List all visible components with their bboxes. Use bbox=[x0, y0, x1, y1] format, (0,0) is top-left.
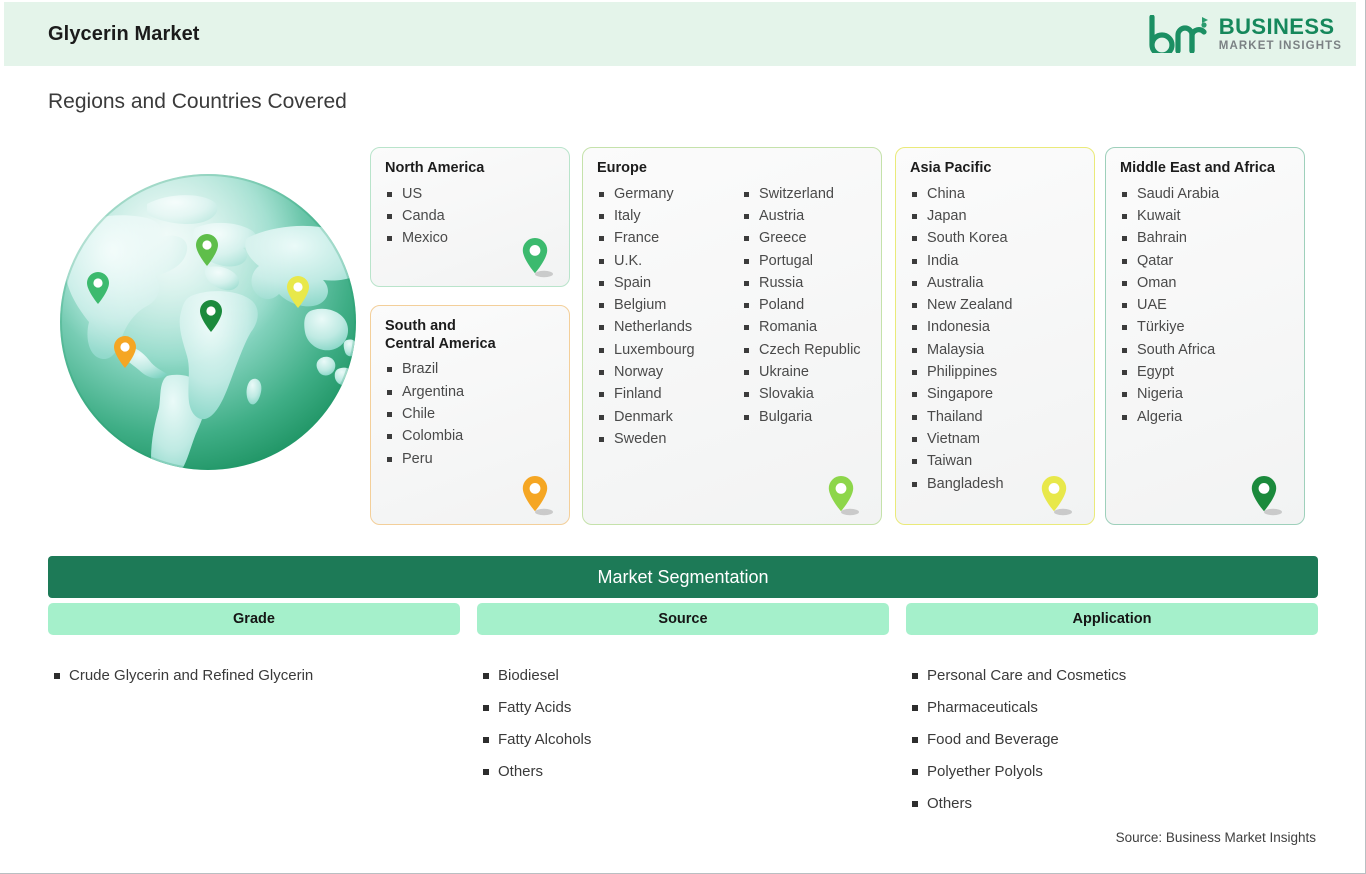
country-item: Singapore bbox=[910, 383, 1080, 405]
country-item: Ukraine bbox=[742, 361, 861, 383]
segmentation-item: Polyether Polyols bbox=[910, 756, 1318, 788]
segmentation-item-list: Biodiesel Fatty Acids Fatty Alcohols Oth… bbox=[477, 660, 889, 788]
segmentation-column-grade: Grade Crude Glycerin and Refined Glyceri… bbox=[48, 603, 460, 820]
country-item: Norway bbox=[597, 361, 742, 383]
country-list-column-2: Switzerland Austria Greece Portugal Russ… bbox=[742, 183, 861, 451]
market-segmentation-header: Market Segmentation bbox=[48, 556, 1318, 598]
country-item: Luxembourg bbox=[597, 339, 742, 361]
segmentation-column-header[interactable]: Source bbox=[477, 603, 889, 635]
bmi-logo-text: BUSINESS MARKET INSIGHTS bbox=[1219, 16, 1342, 53]
country-item: Australia bbox=[910, 272, 1080, 294]
country-item: UAE bbox=[1120, 294, 1290, 316]
region-title: Europe bbox=[597, 160, 867, 178]
country-item: Nigeria bbox=[1120, 383, 1290, 405]
country-item: Qatar bbox=[1120, 250, 1290, 272]
logo-secondary-text: MARKET INSIGHTS bbox=[1219, 41, 1342, 53]
report-page: Glycerin Market BUSINESS MARKET INSIGHTS… bbox=[0, 0, 1366, 874]
region-title: Middle East and Africa bbox=[1120, 160, 1290, 178]
country-item: Taiwan bbox=[910, 450, 1080, 472]
country-item: Japan bbox=[910, 205, 1080, 227]
segmentation-item: Fatty Alcohols bbox=[481, 724, 889, 756]
country-item: Indonesia bbox=[910, 316, 1080, 338]
country-item: Romania bbox=[742, 316, 861, 338]
country-item: Switzerland bbox=[742, 183, 861, 205]
map-pin-icon bbox=[1038, 474, 1072, 518]
country-item: Malaysia bbox=[910, 339, 1080, 361]
region-title-line1: South and bbox=[385, 318, 456, 334]
segmentation-item: Others bbox=[481, 756, 889, 788]
map-pin-icon bbox=[519, 236, 553, 280]
country-list: China Japan South Korea India Australia … bbox=[910, 183, 1080, 495]
country-item: Denmark bbox=[597, 406, 742, 428]
country-list-column-1: Germany Italy France U.K. Spain Belgium … bbox=[597, 183, 742, 451]
country-item: Czech Republic bbox=[742, 339, 861, 361]
country-item: Netherlands bbox=[597, 316, 742, 338]
country-item: Portugal bbox=[742, 250, 861, 272]
country-item: U.K. bbox=[597, 250, 742, 272]
region-card-middle-east-and-africa[interactable]: Middle East and Africa Saudi Arabia Kuwa… bbox=[1105, 147, 1305, 525]
page-header: Glycerin Market BUSINESS MARKET INSIGHTS bbox=[4, 2, 1356, 66]
country-item: New Zealand bbox=[910, 294, 1080, 316]
region-title: North America bbox=[385, 160, 555, 178]
country-item: Germany bbox=[597, 183, 742, 205]
region-card-north-america[interactable]: North America US Canda Mexico bbox=[370, 147, 570, 287]
country-item: Vietnam bbox=[910, 428, 1080, 450]
country-item: Algeria bbox=[1120, 406, 1290, 428]
country-item: South Korea bbox=[910, 227, 1080, 249]
country-item: Egypt bbox=[1120, 361, 1290, 383]
map-pin-icon bbox=[519, 474, 553, 518]
country-item: France bbox=[597, 227, 742, 249]
country-item: Poland bbox=[742, 294, 861, 316]
country-item: Sweden bbox=[597, 428, 742, 450]
page-title: Glycerin Market bbox=[48, 23, 200, 46]
country-item: Kuwait bbox=[1120, 205, 1290, 227]
country-item: Belgium bbox=[597, 294, 742, 316]
segmentation-item: Food and Beverage bbox=[910, 724, 1318, 756]
country-item: Canda bbox=[385, 205, 555, 227]
segmentation-item-list: Crude Glycerin and Refined Glycerin bbox=[48, 660, 460, 692]
country-item: Greece bbox=[742, 227, 861, 249]
segmentation-column-source: Source Biodiesel Fatty Acids Fatty Alcoh… bbox=[477, 603, 889, 820]
country-item: Philippines bbox=[910, 361, 1080, 383]
region-title: South and Central America bbox=[385, 318, 555, 353]
country-item: US bbox=[385, 183, 555, 205]
country-item: Oman bbox=[1120, 272, 1290, 294]
section-title: Regions and Countries Covered bbox=[48, 90, 347, 114]
segmentation-item: Others bbox=[910, 788, 1318, 820]
segmentation-item: Pharmaceuticals bbox=[910, 692, 1318, 724]
market-segmentation-columns: Grade Crude Glycerin and Refined Glyceri… bbox=[48, 603, 1318, 820]
country-item: Thailand bbox=[910, 406, 1080, 428]
country-item: Colombia bbox=[385, 425, 555, 447]
segmentation-column-header[interactable]: Grade bbox=[48, 603, 460, 635]
map-pin-icon bbox=[1248, 474, 1282, 518]
region-title-line2: Central America bbox=[385, 336, 496, 352]
region-card-asia-pacific[interactable]: Asia Pacific China Japan South Korea Ind… bbox=[895, 147, 1095, 525]
country-item: Spain bbox=[597, 272, 742, 294]
country-item: Russia bbox=[742, 272, 861, 294]
country-item: Argentina bbox=[385, 381, 555, 403]
country-item: Finland bbox=[597, 383, 742, 405]
bmi-logo-mark-icon bbox=[1148, 15, 1210, 53]
region-title: Asia Pacific bbox=[910, 160, 1080, 178]
segmentation-column-header[interactable]: Application bbox=[906, 603, 1318, 635]
segmentation-item: Biodiesel bbox=[481, 660, 889, 692]
region-card-south-and-central-america[interactable]: South and Central America Brazil Argenti… bbox=[370, 305, 570, 525]
source-note: Source: Business Market Insights bbox=[1116, 830, 1316, 845]
country-list: Saudi Arabia Kuwait Bahrain Qatar Oman U… bbox=[1120, 183, 1290, 428]
country-item: Austria bbox=[742, 205, 861, 227]
country-item: South Africa bbox=[1120, 339, 1290, 361]
segmentation-item: Personal Care and Cosmetics bbox=[910, 660, 1318, 692]
country-item: Italy bbox=[597, 205, 742, 227]
country-columns: Germany Italy France U.K. Spain Belgium … bbox=[597, 183, 867, 451]
market-segmentation-label: Market Segmentation bbox=[597, 567, 768, 588]
region-card-europe[interactable]: Europe Germany Italy France U.K. Spain B… bbox=[582, 147, 882, 525]
country-list: Brazil Argentina Chile Colombia Peru bbox=[385, 358, 555, 469]
segmentation-item: Fatty Acids bbox=[481, 692, 889, 724]
country-item: Slovakia bbox=[742, 383, 861, 405]
globe-illustration bbox=[55, 172, 365, 492]
map-pin-icon bbox=[825, 474, 859, 518]
segmentation-item: Crude Glycerin and Refined Glycerin bbox=[52, 660, 460, 692]
country-item: India bbox=[910, 250, 1080, 272]
country-item: Chile bbox=[385, 403, 555, 425]
segmentation-column-application: Application Personal Care and Cosmetics … bbox=[906, 603, 1318, 820]
country-item: China bbox=[910, 183, 1080, 205]
country-item: Türkiye bbox=[1120, 316, 1290, 338]
country-item: Peru bbox=[385, 448, 555, 470]
country-item: Saudi Arabia bbox=[1120, 183, 1290, 205]
country-item: Bahrain bbox=[1120, 227, 1290, 249]
country-item: Bulgaria bbox=[742, 406, 861, 428]
bmi-logo: BUSINESS MARKET INSIGHTS bbox=[1148, 15, 1342, 53]
country-item: Brazil bbox=[385, 358, 555, 380]
segmentation-item-list: Personal Care and Cosmetics Pharmaceutic… bbox=[906, 660, 1318, 820]
logo-primary-text: BUSINESS bbox=[1219, 16, 1342, 38]
